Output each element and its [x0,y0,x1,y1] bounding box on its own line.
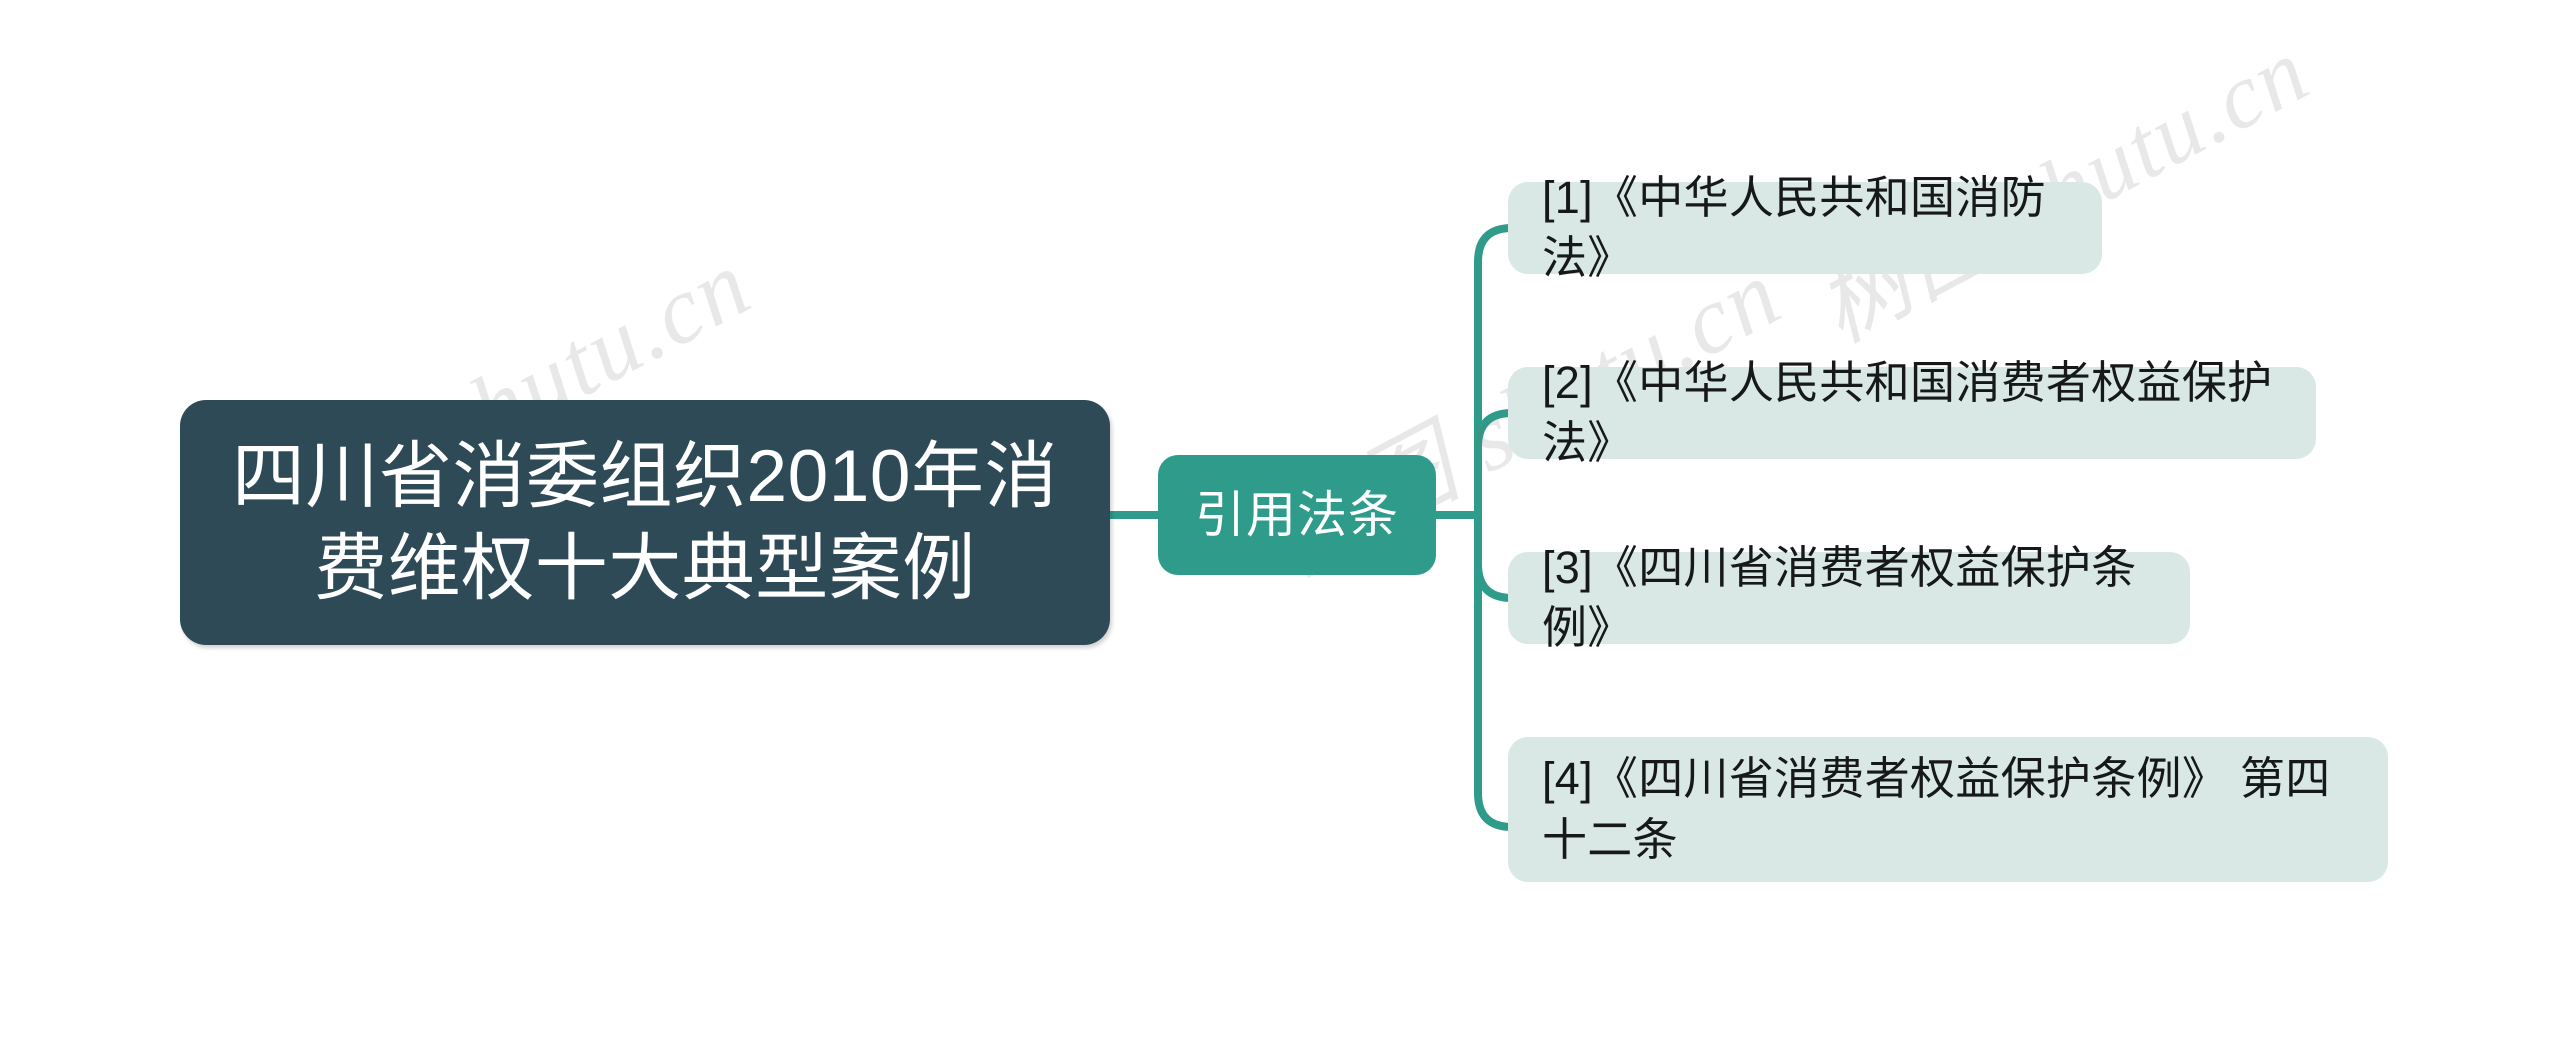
root-node-label: 四川省消委组织2010年消费维权十大典型案例 [180,431,1110,615]
connector-to-leaf-4 [1478,793,1512,827]
connector-to-leaf-1 [1478,228,1512,262]
mindmap-root-node[interactable]: 四川省消委组织2010年消费维权十大典型案例 [180,400,1110,645]
leaf-node-label: [2]《中华人民共和国消费者权益保护法》 [1542,353,2282,474]
leaf-node-label: [4]《四川省消费者权益保护条例》 第四十二条 [1542,749,2354,870]
leaf-node-label: [1]《中华人民共和国消防法》 [1542,168,2068,289]
connector-to-leaf-3 [1478,564,1512,598]
mindmap-leaf-node-3[interactable]: [3]《四川省消费者权益保护条例》 [1508,552,2190,644]
mindmap-leaf-node-1[interactable]: [1]《中华人民共和国消防法》 [1508,182,2102,274]
branch-node-label: 引用法条 [1195,485,1399,545]
connector-to-leaf-2 [1478,413,1512,447]
mindmap-branch-node[interactable]: 引用法条 [1158,455,1436,575]
mindmap-leaf-node-4[interactable]: [4]《四川省消费者权益保护条例》 第四十二条 [1508,737,2388,882]
mindmap-canvas: 树图 shutu.cn 树图 shutu.cn 树图 shutu.cn 四川省消… [0,0,2560,1060]
mindmap-leaf-node-2[interactable]: [2]《中华人民共和国消费者权益保护法》 [1508,367,2316,459]
leaf-node-label: [3]《四川省消费者权益保护条例》 [1542,538,2156,659]
